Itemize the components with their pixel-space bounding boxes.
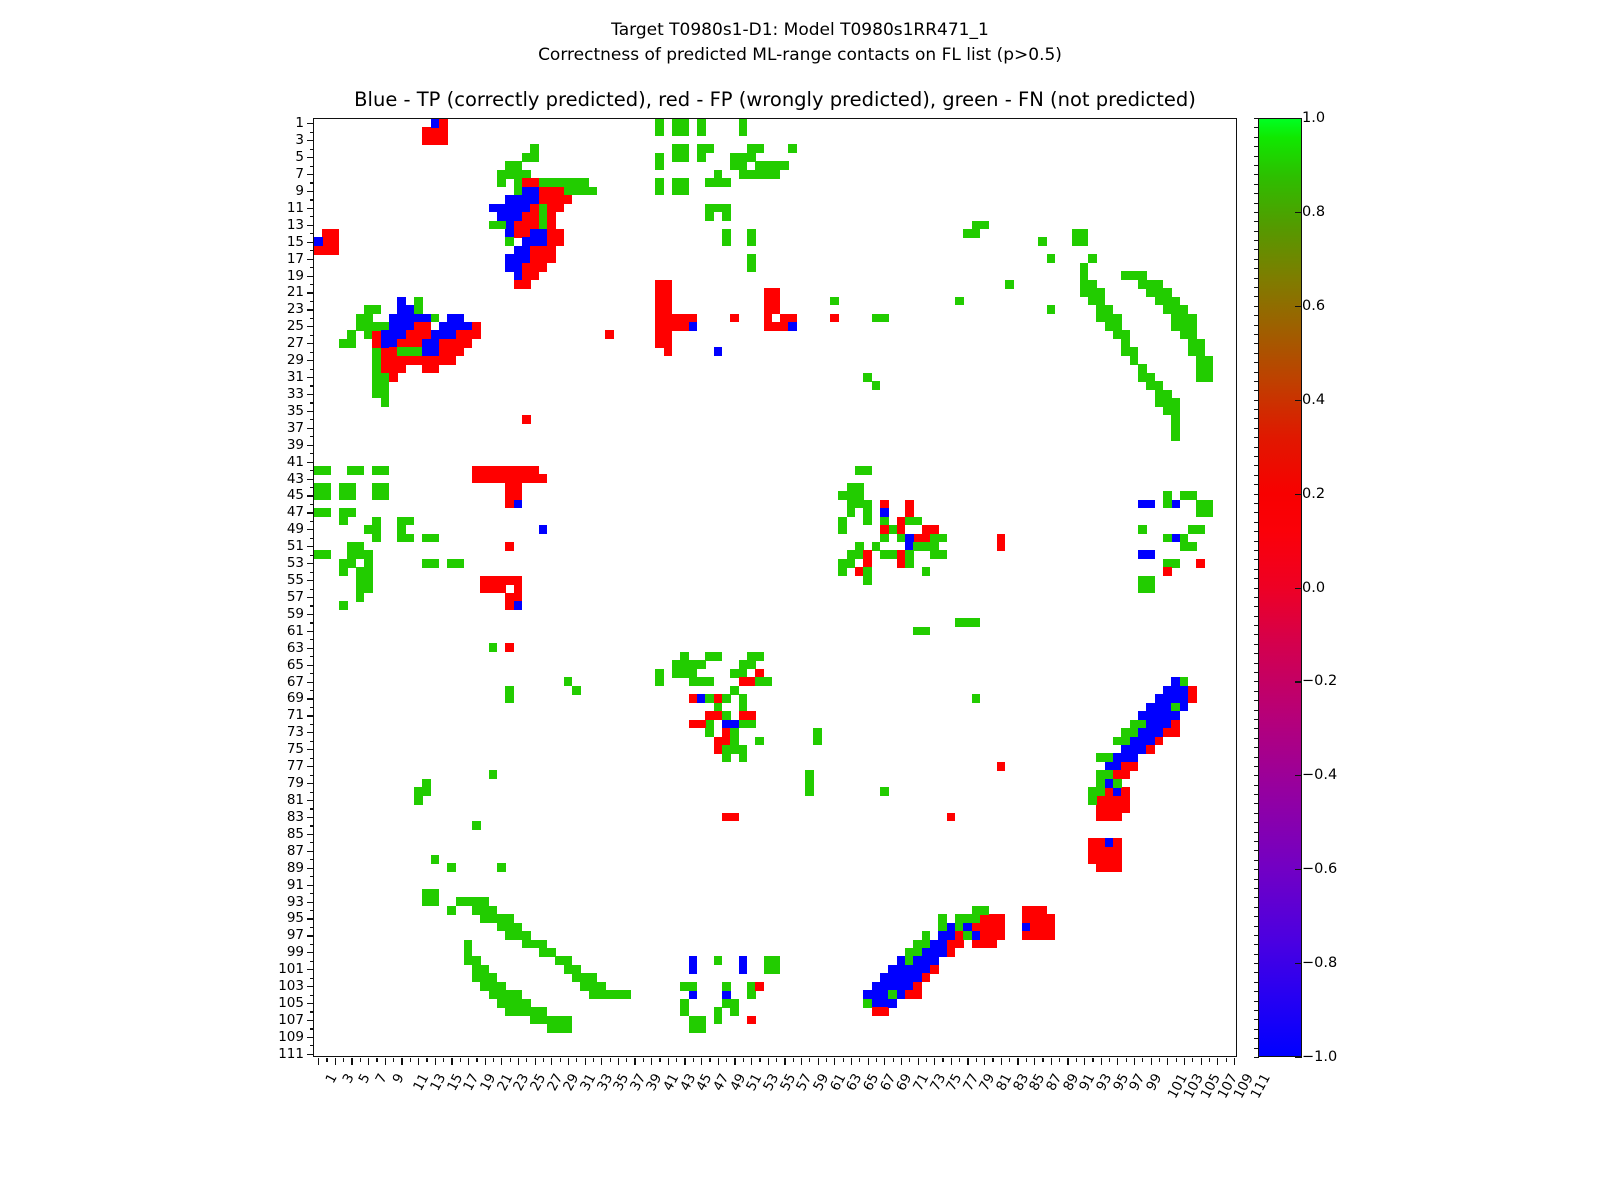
colorbar-minor-tick bbox=[1254, 165, 1259, 166]
colorbar-tick-label: −1.0 bbox=[1302, 1049, 1337, 1065]
y-tick bbox=[307, 1020, 314, 1021]
colorbar-minor-tick bbox=[1254, 541, 1259, 542]
contact-cell-fp bbox=[730, 813, 739, 822]
y-tick bbox=[310, 758, 314, 759]
y-tick bbox=[310, 842, 314, 843]
contact-cell-fp bbox=[505, 643, 514, 652]
colorbar-minor-tick bbox=[1254, 221, 1259, 222]
contact-cell-fn bbox=[381, 491, 390, 500]
contact-cell-fn bbox=[1113, 779, 1122, 788]
colorbar-tick-label: −0.4 bbox=[1302, 767, 1337, 783]
contact-cell-fp bbox=[755, 982, 764, 991]
y-tick bbox=[307, 665, 314, 666]
contact-cell-fn bbox=[697, 660, 706, 669]
contact-cell-fn bbox=[680, 652, 689, 661]
y-tick bbox=[310, 436, 314, 437]
x-tick bbox=[959, 1058, 960, 1062]
x-tick bbox=[318, 1058, 319, 1065]
colorbar-minor-tick bbox=[1254, 465, 1259, 466]
contact-cell-fp bbox=[830, 314, 839, 323]
colorbar-minor-ticks bbox=[1254, 118, 1259, 1057]
contact-cell-fn bbox=[897, 534, 906, 543]
contact-cell-fn bbox=[1080, 263, 1089, 272]
y-tick-label: 95 bbox=[287, 910, 304, 926]
contact-cell-fn bbox=[830, 297, 839, 306]
contact-cell-tp bbox=[905, 534, 914, 543]
colorbar-tick bbox=[1295, 588, 1302, 589]
contact-cell-fn bbox=[1163, 390, 1172, 399]
colorbar-minor-tick bbox=[1254, 747, 1259, 748]
x-tick bbox=[460, 1058, 461, 1062]
y-tick bbox=[310, 318, 314, 319]
contact-cell-fn bbox=[1171, 297, 1180, 306]
y-tick-label: 7 bbox=[295, 166, 304, 182]
contact-cell-fn bbox=[1138, 525, 1147, 534]
contact-cell-fn bbox=[805, 787, 814, 796]
contact-cell-fn bbox=[655, 153, 664, 162]
colorbar-minor-tick bbox=[1254, 963, 1259, 964]
contact-cell-fn bbox=[1196, 339, 1205, 348]
contact-cell-fp bbox=[1188, 694, 1197, 703]
contact-cell-fn bbox=[722, 178, 731, 187]
y-tick bbox=[310, 639, 314, 640]
x-tick bbox=[568, 1058, 569, 1065]
contact-cell-fn bbox=[447, 906, 456, 915]
contact-cell-fn bbox=[739, 703, 748, 712]
y-tick-label: 59 bbox=[287, 606, 304, 622]
contact-cell-fp bbox=[547, 246, 556, 255]
contact-cell-fp bbox=[522, 280, 531, 289]
contact-cell-fp bbox=[863, 559, 872, 568]
x-tick bbox=[951, 1058, 952, 1065]
colorbar-minor-tick bbox=[1254, 832, 1259, 833]
x-tick bbox=[585, 1058, 586, 1065]
contact-cell-fn bbox=[472, 821, 481, 830]
colorbar-minor-tick bbox=[1254, 972, 1259, 973]
x-tick bbox=[1167, 1058, 1168, 1065]
y-tick bbox=[310, 572, 314, 573]
colorbar-minor-tick bbox=[1254, 982, 1259, 983]
contact-cell-fn bbox=[431, 897, 440, 906]
colorbar-minor-tick bbox=[1254, 1019, 1259, 1020]
colorbar-tick-label: 0.2 bbox=[1302, 486, 1325, 502]
contact-cell-fn bbox=[755, 144, 764, 153]
colorbar-minor-tick bbox=[1254, 212, 1259, 213]
contact-cell-tp bbox=[722, 720, 731, 729]
contact-cell-fp bbox=[664, 347, 673, 356]
y-tick-label: 61 bbox=[287, 623, 304, 639]
x-tick bbox=[1059, 1058, 1060, 1062]
y-tick bbox=[310, 487, 314, 488]
contact-cell-fn bbox=[714, 170, 723, 179]
x-tick bbox=[934, 1058, 935, 1065]
colorbar-minor-tick bbox=[1254, 259, 1259, 260]
y-tick bbox=[310, 825, 314, 826]
y-tick bbox=[310, 470, 314, 471]
y-tick-label: 65 bbox=[287, 657, 304, 673]
y-tick bbox=[310, 808, 314, 809]
x-tick bbox=[385, 1058, 386, 1065]
colorbar-minor-tick bbox=[1254, 390, 1259, 391]
y-tick bbox=[310, 419, 314, 420]
colorbar-tick bbox=[1295, 306, 1302, 307]
contact-cell-fn bbox=[880, 534, 889, 543]
contact-cell-fp bbox=[414, 356, 423, 365]
contact-cell-fn bbox=[1205, 373, 1214, 382]
contact-cell-fn bbox=[1096, 787, 1105, 796]
contact-cell-fn bbox=[1121, 339, 1130, 348]
x-tick bbox=[501, 1058, 502, 1065]
contact-cell-fn bbox=[1146, 584, 1155, 593]
contact-cell-fn bbox=[972, 229, 981, 238]
contact-cell-fn bbox=[905, 559, 914, 568]
contact-cell-fp bbox=[539, 263, 548, 272]
colorbar-minor-tick bbox=[1254, 625, 1259, 626]
colorbar-tick-label: 0.8 bbox=[1302, 204, 1325, 220]
contact-cell-fn bbox=[431, 559, 440, 568]
contact-cell-fn bbox=[697, 1024, 706, 1033]
y-tick-label: 91 bbox=[287, 877, 304, 893]
y-tick-label: 81 bbox=[287, 792, 304, 808]
contact-cell-fn bbox=[322, 483, 331, 492]
x-tick bbox=[776, 1058, 777, 1062]
y-tick bbox=[307, 529, 314, 530]
x-tick bbox=[734, 1058, 735, 1065]
contact-cell-fn bbox=[722, 694, 731, 703]
contact-cell-fp bbox=[664, 297, 673, 306]
contact-cell-fp bbox=[530, 271, 539, 280]
contact-cell-fn bbox=[456, 559, 465, 568]
colorbar-minor-tick bbox=[1254, 296, 1259, 297]
y-tick bbox=[307, 309, 314, 310]
x-tick bbox=[1034, 1058, 1035, 1065]
y-tick-label: 85 bbox=[287, 826, 304, 842]
contact-cell-fp bbox=[664, 280, 673, 289]
contact-cell-fn bbox=[497, 863, 506, 872]
contact-cell-fn bbox=[863, 576, 872, 585]
x-tick bbox=[518, 1058, 519, 1065]
x-tick bbox=[676, 1058, 677, 1062]
colorbar-minor-tick bbox=[1254, 428, 1259, 429]
colorbar-tick-label: −0.2 bbox=[1302, 673, 1337, 689]
y-tick bbox=[307, 225, 314, 226]
contact-cell-fn bbox=[655, 161, 664, 170]
x-tick bbox=[818, 1058, 819, 1065]
contact-cell-fn bbox=[406, 517, 415, 526]
contact-cell-fn bbox=[772, 965, 781, 974]
contact-cell-fn bbox=[422, 779, 431, 788]
contact-cell-fn bbox=[497, 221, 506, 230]
contact-cell-fn bbox=[764, 677, 773, 686]
contact-cell-fn bbox=[522, 999, 531, 1008]
contact-cell-fn bbox=[922, 627, 931, 636]
x-tick bbox=[759, 1058, 760, 1062]
y-tick bbox=[307, 885, 314, 886]
y-tick-label: 79 bbox=[287, 775, 304, 791]
y-tick bbox=[307, 648, 314, 649]
contact-cell-fp bbox=[564, 195, 573, 204]
contact-cell-fn bbox=[705, 144, 714, 153]
colorbar-tick-label: −0.8 bbox=[1302, 955, 1337, 971]
colorbar-minor-tick bbox=[1254, 315, 1259, 316]
contact-cell-fn bbox=[1171, 407, 1180, 416]
contact-cell-fn bbox=[788, 144, 797, 153]
contact-cell-fn bbox=[714, 703, 723, 712]
y-tick bbox=[307, 563, 314, 564]
x-tick bbox=[893, 1058, 894, 1062]
y-tick bbox=[307, 783, 314, 784]
colorbar-minor-tick bbox=[1254, 879, 1259, 880]
colorbar-minor-tick bbox=[1254, 231, 1259, 232]
x-tick bbox=[493, 1058, 494, 1062]
contact-cell-fp bbox=[1030, 931, 1039, 940]
contact-cell-fp bbox=[1171, 728, 1180, 737]
contact-cell-fn bbox=[406, 534, 415, 543]
contact-cell-fn bbox=[464, 948, 473, 957]
contact-cell-fp bbox=[439, 119, 448, 128]
colorbar-minor-tick bbox=[1254, 916, 1259, 917]
y-tick bbox=[307, 902, 314, 903]
x-tick bbox=[551, 1058, 552, 1065]
contact-cell-fp bbox=[730, 314, 739, 323]
contact-cell-fp bbox=[1113, 813, 1122, 822]
y-tick bbox=[307, 631, 314, 632]
x-tick bbox=[485, 1058, 486, 1065]
y-tick bbox=[310, 622, 314, 623]
x-tick bbox=[1092, 1058, 1093, 1062]
contact-cell-fn bbox=[972, 694, 981, 703]
contact-cell-fn bbox=[514, 999, 523, 1008]
y-tick bbox=[307, 1003, 314, 1004]
contact-cell-fn bbox=[722, 753, 731, 762]
contact-cell-fn bbox=[1130, 356, 1139, 365]
y-tick bbox=[310, 1028, 314, 1029]
colorbar-tick bbox=[1295, 494, 1302, 495]
colorbar-minor-tick bbox=[1254, 287, 1259, 288]
contact-cell-fn bbox=[505, 694, 514, 703]
x-tick bbox=[601, 1058, 602, 1065]
y-tick bbox=[310, 233, 314, 234]
contact-cell-fn bbox=[514, 923, 523, 932]
colorbar-minor-tick bbox=[1254, 193, 1259, 194]
x-tick bbox=[843, 1058, 844, 1062]
x-tick bbox=[326, 1058, 327, 1062]
contact-cell-fn bbox=[322, 491, 331, 500]
y-tick bbox=[307, 732, 314, 733]
contact-cell-fn bbox=[697, 1016, 706, 1025]
y-tick-label: 45 bbox=[287, 487, 304, 503]
y-tick-label: 67 bbox=[287, 674, 304, 690]
contact-cell-tp bbox=[689, 322, 698, 331]
x-tick bbox=[976, 1058, 977, 1062]
colorbar-minor-tick bbox=[1254, 954, 1259, 955]
y-tick bbox=[310, 216, 314, 217]
x-tick bbox=[1084, 1058, 1085, 1065]
y-tick bbox=[307, 749, 314, 750]
colorbar-minor-tick bbox=[1254, 757, 1259, 758]
contact-cell-tp bbox=[689, 965, 698, 974]
colorbar-minor-tick bbox=[1254, 400, 1259, 401]
contact-cell-fn bbox=[689, 982, 698, 991]
y-tick-label: 105 bbox=[278, 995, 304, 1011]
contact-cell-fn bbox=[1096, 297, 1105, 306]
colorbar-tick bbox=[1295, 118, 1302, 119]
x-tick bbox=[426, 1058, 427, 1062]
contact-cell-fp bbox=[1163, 567, 1172, 576]
y-tick bbox=[310, 876, 314, 877]
contact-cell-fn bbox=[381, 466, 390, 475]
contact-cell-tp bbox=[739, 965, 748, 974]
contact-cell-fp bbox=[880, 525, 889, 534]
contact-cell-fn bbox=[938, 534, 947, 543]
colorbar-minor-tick bbox=[1254, 578, 1259, 579]
colorbar-minor-tick bbox=[1254, 785, 1259, 786]
x-tick bbox=[1009, 1058, 1010, 1062]
colorbar-minor-tick bbox=[1254, 644, 1259, 645]
y-tick-label: 39 bbox=[287, 437, 304, 453]
colorbar-minor-tick bbox=[1254, 484, 1259, 485]
contact-cell-fn bbox=[381, 373, 390, 382]
colorbar-minor-tick bbox=[1254, 926, 1259, 927]
y-tick-label: 5 bbox=[295, 149, 304, 165]
contact-cell-fp bbox=[1113, 863, 1122, 872]
contact-cell-fn bbox=[339, 601, 348, 610]
y-tick bbox=[307, 580, 314, 581]
contact-cell-fn bbox=[714, 956, 723, 965]
x-tick bbox=[1076, 1058, 1077, 1062]
contact-cell-fn bbox=[747, 720, 756, 729]
x-tick bbox=[1067, 1058, 1068, 1065]
contact-cell-fn bbox=[1088, 796, 1097, 805]
contact-cell-fp bbox=[422, 322, 431, 331]
contact-cell-fn bbox=[489, 643, 498, 652]
x-tick bbox=[909, 1058, 910, 1062]
contact-cell-tp bbox=[539, 525, 548, 534]
y-tick-label: 51 bbox=[287, 538, 304, 554]
contact-cell-fn bbox=[1146, 373, 1155, 382]
x-tick bbox=[410, 1058, 411, 1062]
contact-cell-fn bbox=[1047, 305, 1056, 314]
x-tick bbox=[610, 1058, 611, 1062]
y-tick bbox=[307, 834, 314, 835]
contact-cell-fn bbox=[655, 187, 664, 196]
contact-cell-fn bbox=[447, 863, 456, 872]
contact-cell-fp bbox=[955, 940, 964, 949]
colorbar-minor-tick bbox=[1254, 494, 1259, 495]
contact-cell-fn bbox=[863, 466, 872, 475]
y-tick bbox=[310, 707, 314, 708]
y-tick bbox=[307, 242, 314, 243]
contact-cell-tp bbox=[514, 263, 523, 272]
contact-cell-tp bbox=[689, 990, 698, 999]
x-tick bbox=[793, 1058, 794, 1062]
contact-cell-tp bbox=[1130, 737, 1139, 746]
contact-cell-fn bbox=[730, 737, 739, 746]
contact-cell-fn bbox=[347, 559, 356, 568]
contact-cell-fp bbox=[905, 508, 914, 517]
contact-cell-fn bbox=[414, 297, 423, 306]
y-tick bbox=[307, 343, 314, 344]
contact-cell-fp bbox=[997, 534, 1006, 543]
y-tick bbox=[310, 690, 314, 691]
contact-cell-tp bbox=[431, 339, 440, 348]
contact-cell-tp bbox=[888, 999, 897, 1008]
colorbar-minor-tick bbox=[1254, 343, 1259, 344]
y-tick-label: 35 bbox=[287, 403, 304, 419]
colorbar-minor-tick bbox=[1254, 588, 1259, 589]
contact-cell-tp bbox=[788, 322, 797, 331]
x-tick bbox=[1142, 1058, 1143, 1062]
colorbar-minor-tick bbox=[1254, 944, 1259, 945]
contact-cell-fp bbox=[1188, 686, 1197, 695]
x-tick bbox=[535, 1058, 536, 1065]
contact-cell-fn bbox=[680, 187, 689, 196]
y-tick-label: 9 bbox=[295, 183, 304, 199]
colorbar-minor-tick bbox=[1254, 935, 1259, 936]
x-tick bbox=[418, 1058, 419, 1065]
x-tick bbox=[510, 1058, 511, 1062]
contact-cell-fp bbox=[1155, 737, 1164, 746]
x-tick bbox=[1209, 1058, 1210, 1062]
colorbar-tick bbox=[1295, 963, 1302, 964]
contact-cell-fp bbox=[472, 330, 481, 339]
contact-cell-tp bbox=[514, 601, 523, 610]
colorbar-minor-tick bbox=[1254, 372, 1259, 373]
y-tick bbox=[307, 512, 314, 513]
contact-cell-tp bbox=[1180, 703, 1189, 712]
contact-cell-fp bbox=[722, 813, 731, 822]
colorbar-minor-tick bbox=[1254, 606, 1259, 607]
contact-cell-fn bbox=[431, 889, 440, 898]
colorbar-minor-tick bbox=[1254, 841, 1259, 842]
contact-cell-fn bbox=[722, 999, 731, 1008]
y-tick bbox=[310, 673, 314, 674]
y-tick bbox=[310, 555, 314, 556]
y-tick bbox=[307, 817, 314, 818]
colorbar-minor-tick bbox=[1254, 306, 1259, 307]
colorbar-minor-tick bbox=[1254, 991, 1259, 992]
contact-cell-fn bbox=[747, 153, 756, 162]
x-tick-label: 7 bbox=[373, 1071, 391, 1086]
y-tick-label: 19 bbox=[287, 268, 304, 284]
contact-cell-fp bbox=[530, 466, 539, 475]
y-tick-label: 29 bbox=[287, 352, 304, 368]
colorbar-minor-tick bbox=[1254, 137, 1259, 138]
y-tick bbox=[307, 479, 314, 480]
contact-cell-fn bbox=[1088, 254, 1097, 263]
contact-cell-fp bbox=[997, 542, 1006, 551]
x-tick bbox=[701, 1058, 702, 1065]
y-tick-label: 57 bbox=[287, 589, 304, 605]
x-tick bbox=[901, 1058, 902, 1065]
colorbar-minor-tick bbox=[1254, 503, 1259, 504]
colorbar-minor-tick bbox=[1254, 850, 1259, 851]
x-tick bbox=[634, 1058, 635, 1065]
contact-cell-fn bbox=[1188, 542, 1197, 551]
contact-cell-fp bbox=[747, 1016, 756, 1025]
y-tick bbox=[310, 402, 314, 403]
contact-cell-fn bbox=[780, 161, 789, 170]
contact-cell-fn bbox=[347, 339, 356, 348]
contact-cell-fp bbox=[472, 322, 481, 331]
contact-cell-fn bbox=[872, 381, 881, 390]
x-tick bbox=[1192, 1058, 1193, 1062]
x-tick bbox=[1117, 1058, 1118, 1065]
x-tick bbox=[992, 1058, 993, 1062]
colorbar-minor-tick bbox=[1254, 1001, 1259, 1002]
y-tick bbox=[310, 724, 314, 725]
contact-cell-fp bbox=[547, 254, 556, 263]
